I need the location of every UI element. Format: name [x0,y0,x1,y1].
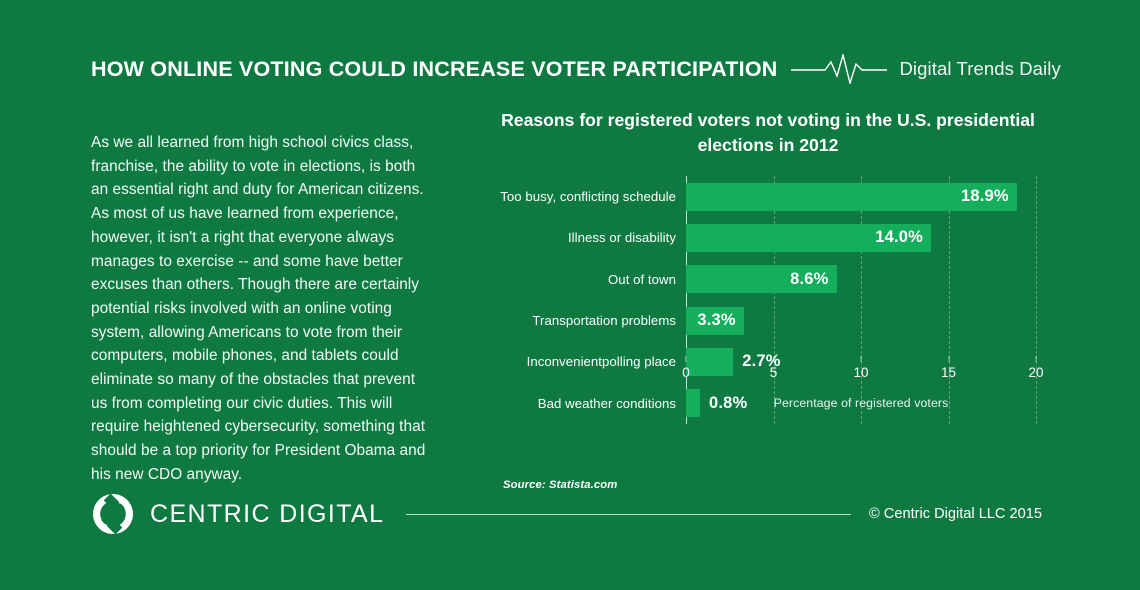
bar-track: 18.9% [686,176,1046,217]
bar-row: Illness or disability14.0% [470,217,1070,258]
page-header: HOW ONLINE VOTING COULD INCREASE VOTER P… [91,52,1042,86]
tick-mark [861,356,862,362]
x-axis-tick: 5 [770,356,778,380]
bar-row: Transportation problems3.3% [470,300,1070,341]
tick-mark [948,356,949,362]
bar-row: Too busy, conflicting schedule18.9% [470,176,1070,217]
bar-category-label: Inconvenientpolling place [470,354,686,369]
bar-track: 14.0% [686,217,1046,258]
x-axis-ticks: 05101520 [686,356,1036,390]
bar-category-label: Bad weather conditions [470,396,686,411]
bar: 3.3% [686,307,744,335]
bar: 14.0% [686,224,931,252]
bar-value-label: 3.3% [697,311,735,330]
copyright-notice: © Centric Digital LLC 2015 [869,506,1042,522]
tick-mark [773,356,774,362]
bar-row: Out of town8.6% [470,259,1070,300]
tick-label: 20 [1028,365,1043,380]
tick-mark [1036,356,1037,362]
x-axis-tick: 10 [853,356,868,380]
bar-category-label: Too busy, conflicting schedule [470,189,686,204]
centric-digital-ring-logo-icon [91,492,135,536]
logo-wordmark: CENTRIC DIGITAL [150,500,384,529]
tick-mark [685,356,686,362]
footer-divider [406,514,851,515]
x-axis-tick: 15 [941,356,956,380]
article-body: As we all learned from high school civic… [91,131,431,487]
tick-label: 0 [682,365,690,380]
bar-track: 8.6% [686,259,1046,300]
bar: 18.9% [686,183,1017,211]
bar-value-label: 18.9% [961,187,1009,206]
tick-label: 10 [853,365,868,380]
chart-title: Reasons for registered voters not voting… [478,108,1058,158]
heartbeat-ekg-line-icon [791,54,887,84]
tick-label: 15 [941,365,956,380]
x-axis-label: Percentage of registered voters [686,396,1036,410]
bar-category-label: Out of town [470,272,686,287]
bar-value-label: 14.0% [875,228,923,247]
bar-chart: Reasons for registered voters not voting… [470,108,1070,468]
x-axis-tick: 20 [1028,356,1043,380]
page-title: HOW ONLINE VOTING COULD INCREASE VOTER P… [91,57,777,82]
bar-category-label: Illness or disability [470,230,686,245]
bar-track: 3.3% [686,300,1046,341]
publication-name: Digital Trends Daily [899,58,1060,80]
bar-category-label: Transportation problems [470,313,686,328]
x-axis-tick: 0 [682,356,690,380]
tick-label: 5 [770,365,778,380]
bar: 8.6% [686,265,837,293]
page-footer: CENTRIC DIGITAL © Centric Digital LLC 20… [91,489,1042,539]
bar-value-label: 8.6% [790,270,828,289]
